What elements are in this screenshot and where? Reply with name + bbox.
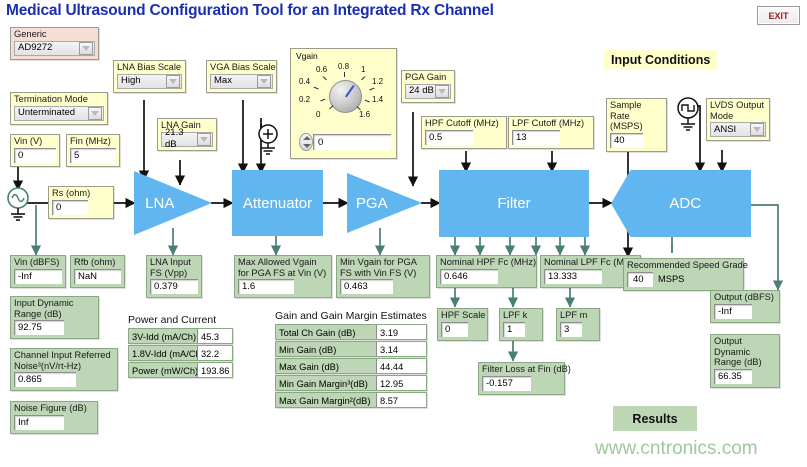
termination-mode-select[interactable]: Termination Mode Unterminated — [10, 92, 108, 125]
generic-value[interactable]: AD9272 — [14, 41, 95, 56]
generic-device-select[interactable]: Generic AD9272 — [10, 27, 99, 60]
input-conditions-banner: Input Conditions — [604, 50, 717, 70]
row-value: 44.44 — [376, 359, 426, 373]
vgain-tick-0.4: 0.4 — [299, 77, 310, 86]
hpf-scale-value: 0 — [441, 322, 468, 337]
vgain-tick-1: 1 — [361, 65, 365, 74]
hpf-scale-label: HPF Scale — [441, 310, 484, 321]
termination-mode-selected: Unterminated — [18, 107, 75, 119]
termination-mode-value[interactable]: Unterminated — [14, 106, 104, 121]
lpf-k-indicator: LPF k 1 — [499, 308, 543, 341]
vgain-knob-control[interactable]: Vgain 0 0.2 0.4 0.6 0.8 1 1.2 1.4 1.6 0 — [290, 48, 397, 159]
chevron-down-icon[interactable] — [88, 107, 102, 120]
row-value: 8.57 — [376, 393, 426, 407]
block-lna-label: LNA — [145, 195, 174, 212]
lvds-output-mode-value[interactable]: ANSI — [710, 122, 766, 137]
vgain-spinner[interactable] — [299, 133, 313, 151]
row-label: Min Gain Margin³(dB) — [276, 376, 376, 390]
chevron-down-icon[interactable] — [257, 75, 271, 88]
filter-loss-at-fin-indicator: Filter Loss at Fin (dB) -0.157 — [478, 362, 565, 395]
block-lna[interactable]: LNA — [134, 171, 212, 235]
noise-figure-indicator: Noise Figure (dB) Inf — [10, 401, 98, 434]
vgain-knob-dial[interactable]: 0 0.2 0.4 0.6 0.8 1 1.2 1.4 1.6 — [291, 60, 398, 132]
noise-figure-value: Inf — [14, 415, 64, 430]
lna-input-fs-label: LNA Input FS (Vpp) — [150, 257, 198, 278]
rs-ohm-value[interactable]: 0 — [52, 200, 88, 215]
rfb-ohm-value: NaN — [74, 269, 121, 284]
block-attenuator-label: Attenuator — [243, 195, 312, 212]
block-pga[interactable]: PGA — [347, 173, 422, 233]
vgain-tick-1.4: 1.4 — [372, 95, 383, 104]
vgain-source-icon — [255, 124, 281, 158]
block-filter[interactable]: Filter — [439, 170, 589, 237]
vin-volts-input[interactable]: Vin (V) 0 — [10, 134, 60, 167]
recommended-speed-grade-indicator: Recommended Speed Grade 40 MSPS — [623, 258, 744, 291]
nominal-hpf-fc-value: 0.646 — [440, 269, 498, 284]
table-row: 1.8V-Idd (mA/Ch)32.2 — [128, 345, 233, 361]
chevron-down-icon[interactable] — [166, 75, 180, 88]
input-dynamic-range-indicator: Input Dynamic Range (dB) 92.75 — [10, 296, 99, 339]
recommended-speed-grade-units: MSPS — [658, 274, 684, 284]
block-filter-label: Filter — [497, 195, 530, 212]
channel-input-referred-noise-label: Channel Input Referred Noise³(nV/rt-Hz) — [14, 350, 114, 371]
recommended-speed-grade-value: 40 — [627, 272, 653, 287]
chevron-down-icon[interactable] — [197, 133, 211, 146]
row-value: 12.95 — [376, 376, 426, 390]
table-row: Total Ch Gain (dB)3.19 — [275, 324, 427, 340]
vgain-tick-0.8: 0.8 — [338, 62, 349, 71]
output-dynamic-range-indicator: Output Dynamic Range (dB) 66.35 — [710, 334, 780, 388]
lna-gain-value[interactable]: 21.3 dB — [161, 132, 213, 147]
vgain-tick-1.2: 1.2 — [372, 77, 383, 86]
fin-mhz-input[interactable]: Fin (MHz) 5 — [66, 134, 120, 167]
power-and-current-table: 3V-Idd (mA/Ch)45.31.8V-Idd (mA/Ch)32.2Po… — [128, 328, 233, 379]
input-dynamic-range-value: 92.75 — [14, 320, 64, 335]
row-value: 3.14 — [376, 342, 426, 356]
gain-estimates-heading: Gain and Gain Margin Estimates — [275, 310, 427, 322]
row-label: Power (mW/Ch) — [129, 363, 197, 377]
termination-mode-label: Termination Mode — [14, 94, 104, 105]
rfb-ohm-indicator: Rfb (ohm) NaN — [70, 255, 125, 288]
output-dynamic-range-label: Output Dynamic Range (dB) — [714, 336, 776, 368]
sample-rate-input[interactable]: Sample Rate (MSPS) 40 — [606, 98, 667, 152]
generic-selected: AD9272 — [18, 42, 52, 54]
table-row: 3V-Idd (mA/Ch)45.3 — [128, 328, 233, 344]
lvds-output-mode-select[interactable]: LVDS Output Mode ANSI — [706, 98, 770, 141]
chevron-down-icon[interactable] — [750, 123, 764, 136]
vgain-tick-0.6: 0.6 — [316, 65, 327, 74]
min-vgain-for-pga-value: 0.463 — [340, 279, 393, 294]
pga-gain-selected: 24 dB — [409, 85, 434, 97]
table-row: Min Gain Margin³(dB)12.95 — [275, 375, 427, 391]
results-banner: Results — [613, 406, 697, 431]
hpf-cutoff-value[interactable]: 0.5 — [425, 130, 473, 145]
max-allowed-vgain-value: 1.6 — [238, 279, 294, 294]
lna-bias-scale-label: LNA Bias Scale — [117, 62, 182, 73]
sample-rate-label: Sample Rate (MSPS) — [610, 100, 663, 132]
lna-bias-scale-value[interactable]: High — [117, 74, 182, 89]
rs-ohm-label: Rs (ohm) — [52, 188, 110, 199]
table-row: Max Gain (dB)44.44 — [275, 358, 427, 374]
vin-volts-label: Vin (V) — [14, 136, 56, 147]
row-label: Min Gain (dB) — [276, 342, 376, 356]
exit-button[interactable]: EXIT — [757, 6, 800, 25]
filter-loss-at-fin-label: Filter Loss at Fin (dB) — [482, 364, 561, 375]
adc-clock-source-icon — [675, 96, 703, 136]
nominal-lpf-fc-value: 13.333 — [544, 269, 602, 284]
row-label: 1.8V-Idd (mA/Ch) — [129, 346, 197, 360]
hpf-cutoff-input[interactable]: HPF Cutoff (MHz) 0.5 — [421, 116, 507, 149]
fin-mhz-value[interactable]: 5 — [70, 148, 116, 163]
row-label: Max Gain (dB) — [276, 359, 376, 373]
vga-bias-scale-label: VGA Bias Scale — [210, 62, 273, 73]
lpf-m-value: 3 — [560, 322, 582, 337]
fin-mhz-label: Fin (MHz) — [70, 136, 116, 147]
vga-bias-scale-select[interactable]: VGA Bias Scale Max — [206, 60, 277, 93]
min-vgain-for-pga-label: Min Vgain for PGA FS with Vin FS (V) — [340, 257, 426, 278]
lpf-cutoff-value[interactable]: 13 — [512, 130, 560, 145]
row-value: 3.19 — [376, 325, 426, 339]
pga-gain-value[interactable]: 24 dB — [405, 84, 451, 99]
recommended-speed-grade-label: Recommended Speed Grade — [627, 260, 740, 271]
signal-source-icon — [6, 186, 36, 226]
lna-gain-select[interactable]: LNA Gain 21.3 dB — [157, 118, 217, 151]
noise-figure-label: Noise Figure (dB) — [14, 403, 94, 414]
block-pga-label: PGA — [356, 195, 388, 212]
lpf-k-label: LPF k — [503, 310, 539, 321]
output-dynamic-range-value: 66.35 — [714, 369, 752, 384]
vgain-value[interactable]: 0 — [313, 134, 391, 150]
max-allowed-vgain-indicator: Max Allowed Vgain for PGA FS at Vin (V) … — [234, 255, 332, 298]
generic-label: Generic — [14, 29, 95, 40]
lpf-k-value: 1 — [503, 322, 525, 337]
nominal-hpf-fc-indicator: Nominal HPF Fc (MHz) 0.646 — [436, 255, 537, 288]
table-row: Max Gain Margin²(dB)8.57 — [275, 392, 427, 408]
row-value: 193.86 — [197, 363, 232, 377]
pga-gain-select[interactable]: PGA Gain 24 dB — [401, 70, 455, 103]
min-vgain-for-pga-indicator: Min Vgain for PGA FS with Vin FS (V) 0.4… — [336, 255, 430, 298]
block-adc-label: ADC — [669, 195, 701, 212]
vgain-tick-0: 0 — [316, 110, 320, 119]
chevron-down-icon[interactable] — [79, 42, 93, 55]
lna-bias-scale-selected: High — [121, 75, 141, 87]
lvds-output-mode-selected: ANSI — [714, 124, 736, 136]
row-value: 32.2 — [197, 346, 232, 360]
input-dynamic-range-label: Input Dynamic Range (dB) — [14, 298, 95, 319]
lna-gain-selected: 21.3 dB — [165, 127, 197, 151]
lvds-output-mode-label: LVDS Output Mode — [710, 100, 766, 121]
nominal-hpf-fc-label: Nominal HPF Fc (MHz) — [440, 257, 533, 268]
hpf-scale-indicator: HPF Scale 0 — [437, 308, 488, 341]
chevron-down-icon[interactable] — [435, 85, 449, 98]
lpf-m-label: LPF m — [560, 310, 596, 321]
vgain-tick-0.2: 0.2 — [299, 95, 310, 104]
table-row: Power (mW/Ch)193.86 — [128, 362, 233, 378]
vga-bias-scale-value[interactable]: Max — [210, 74, 273, 89]
table-row: Min Gain (dB)3.14 — [275, 341, 427, 357]
lpf-cutoff-label: LPF Cutoff (MHz) — [512, 118, 590, 129]
output-dbfs-label: Output (dBFS) — [714, 292, 776, 303]
lna-bias-scale-select[interactable]: LNA Bias Scale High — [113, 60, 186, 93]
output-dbfs-indicator: Output (dBFS) -Inf — [710, 290, 780, 323]
filter-loss-at-fin-value: -0.157 — [482, 376, 531, 391]
hpf-cutoff-label: HPF Cutoff (MHz) — [425, 118, 503, 129]
lna-input-fs-value: 0.379 — [150, 279, 198, 294]
channel-input-referred-noise-value: 0.865 — [14, 372, 76, 387]
row-label: Max Gain Margin²(dB) — [276, 393, 376, 407]
output-dbfs-value: -Inf — [714, 304, 752, 319]
pga-gain-label: PGA Gain — [405, 72, 451, 83]
rfb-ohm-label: Rfb (ohm) — [74, 257, 121, 268]
app-root: Medical Ultrasound Configuration Tool fo… — [0, 0, 807, 467]
max-allowed-vgain-label: Max Allowed Vgain for PGA FS at Vin (V) — [238, 257, 328, 278]
vin-dbfs-label: Vin (dBFS) — [14, 257, 62, 268]
lpf-m-indicator: LPF m 3 — [556, 308, 600, 341]
vin-dbfs-value: -Inf — [14, 269, 62, 284]
vga-bias-scale-selected: Max — [214, 75, 232, 87]
vin-dbfs-indicator: Vin (dBFS) -Inf — [10, 255, 66, 288]
block-adc[interactable]: ADC — [611, 170, 751, 237]
row-label: 3V-Idd (mA/Ch) — [129, 329, 197, 343]
sample-rate-value[interactable]: 40 — [610, 133, 643, 148]
row-label: Total Ch Gain (dB) — [276, 325, 376, 339]
rs-ohm-input[interactable]: Rs (ohm) 0 — [48, 186, 114, 219]
power-and-current-heading: Power and Current — [128, 314, 216, 326]
row-value: 45.3 — [197, 329, 232, 343]
channel-input-referred-noise-indicator: Channel Input Referred Noise³(nV/rt-Hz) … — [10, 348, 118, 391]
vin-volts-value[interactable]: 0 — [14, 148, 56, 163]
site-watermark: www.cntronics.com — [595, 438, 758, 460]
lpf-cutoff-input[interactable]: LPF Cutoff (MHz) 13 — [508, 116, 594, 149]
gain-estimates-table: Total Ch Gain (dB)3.19Min Gain (dB)3.14M… — [275, 324, 427, 409]
vgain-tick-1.6: 1.6 — [359, 110, 370, 119]
block-attenuator[interactable]: Attenuator — [232, 170, 323, 236]
lna-input-fs-indicator: LNA Input FS (Vpp) 0.379 — [146, 255, 202, 298]
page-title: Medical Ultrasound Configuration Tool fo… — [6, 2, 494, 20]
